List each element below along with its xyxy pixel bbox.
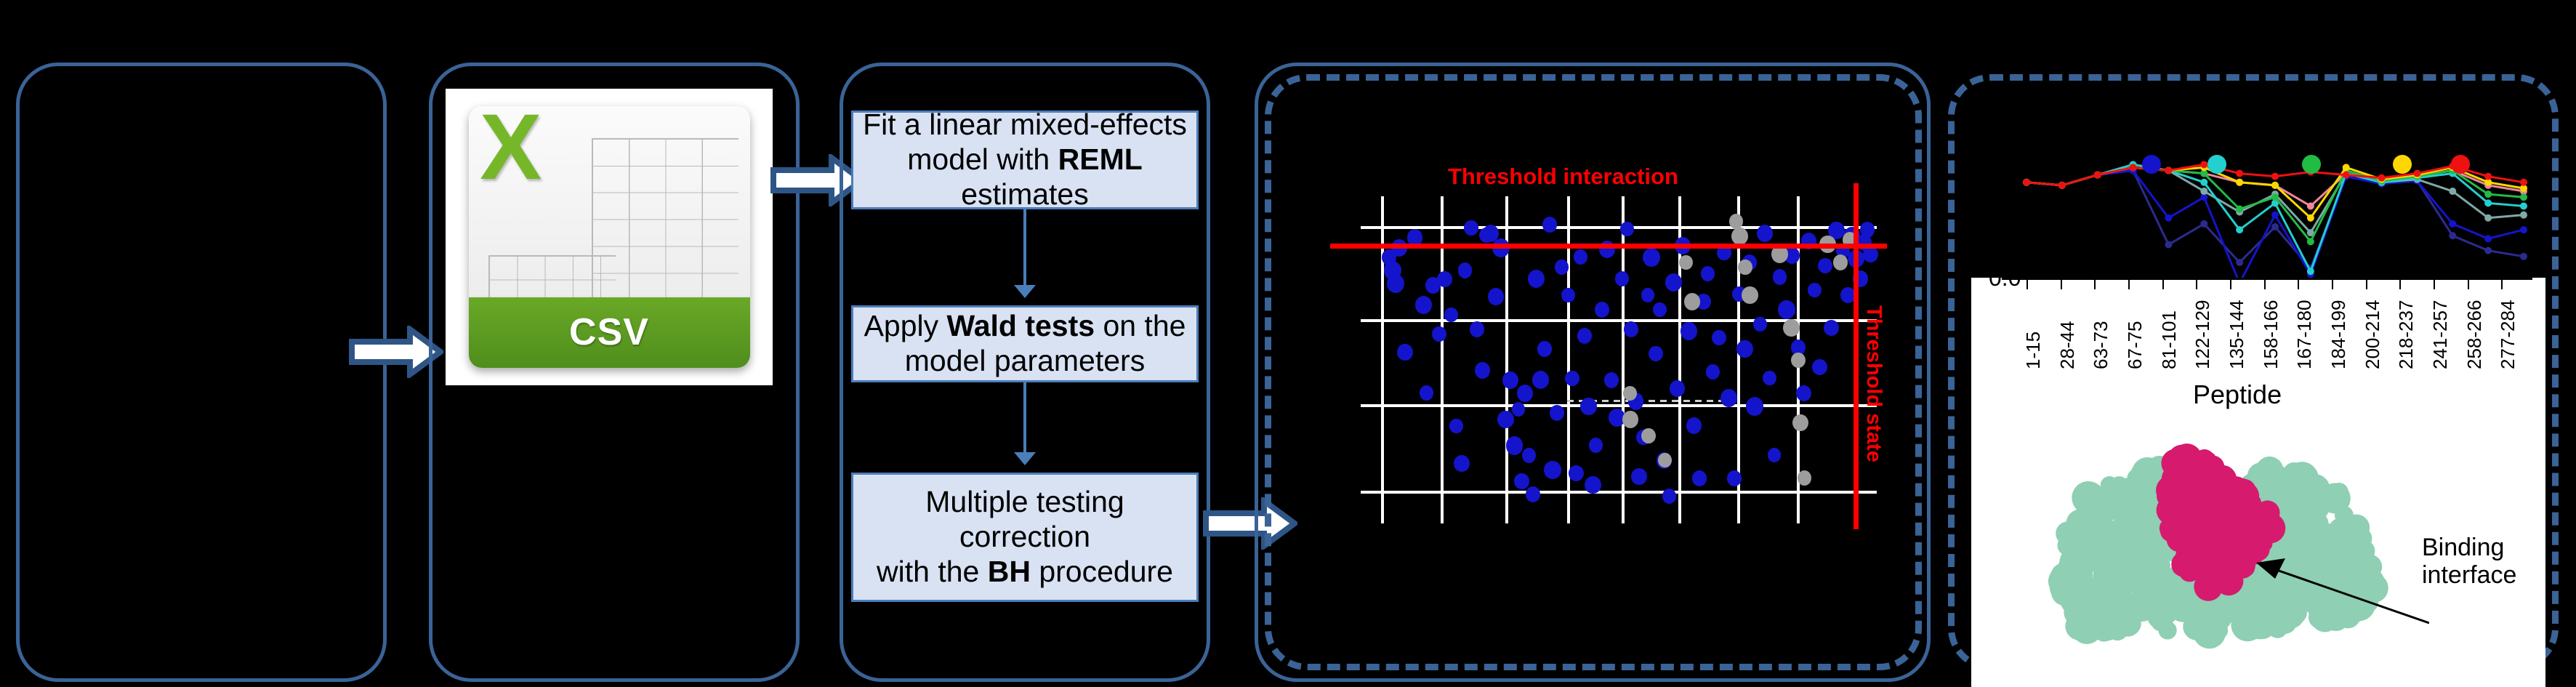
scatter-point [1720,389,1737,407]
scatter-point [1615,271,1629,286]
scatter-gridlines [1361,196,1877,523]
structure-surface-blob [2115,595,2138,617]
scatter-point [1692,470,1707,486]
scatter-plot: Threshold state [1361,196,1877,523]
structure-surface-blob [2335,506,2354,525]
peptide-tick-mark [2501,279,2503,289]
scatter-point [1768,448,1781,462]
structure-surface-blob [2307,556,2323,572]
peptide-tick-label: 167-180 [2293,300,2316,369]
scatter-point [1561,288,1575,302]
peptide-marker [2271,223,2279,230]
peptide-marker [2484,235,2492,242]
peptide-tick-mark [2298,279,2299,289]
peptide-marker [2449,220,2456,228]
scatter-point [1796,385,1811,401]
protein-complex-structure [2022,416,2429,663]
csv-label-text: CSV [569,310,649,354]
figure-root: X CSV Fit a linear mixed-effects model w… [0,0,2576,687]
structure-surface-blob [2090,545,2111,566]
scatter-point [1778,300,1795,318]
peptide-marker [2484,247,2492,254]
structure-surface-blob [2196,561,2221,586]
peptide-tick-mark [2196,279,2197,289]
peptide-structure-card: 0.0 1-1528-4463-7367-7581-101122-129135-… [1971,278,2545,687]
structure-surface-blob [2291,463,2316,488]
peptide-marker [2200,220,2207,228]
scatter-point [1783,319,1800,337]
peptide-marker [2449,188,2456,195]
peptide-marker [2307,214,2314,222]
peptide-tick-label: 1-15 [2022,332,2045,369]
scatter-point [1464,220,1478,236]
scatter-point [1528,270,1545,288]
peptide-tick-label: 184-199 [2327,300,2350,369]
scatter-point [1577,328,1592,344]
binding-interface-label: Bindinginterface [2422,534,2516,589]
scatter-point [1649,346,1663,361]
peptide-tick-label: 241-257 [2429,300,2452,369]
legend-dot-3 [2393,155,2412,174]
peptide-legend [2006,154,2529,183]
structure-surface-blob [2128,576,2143,591]
scatter-point [1565,371,1579,387]
peptide-marker [2165,241,2172,248]
peptide-tick-mark [2061,279,2062,289]
legend-dot-0 [2142,155,2161,174]
structure-surface-blob [2245,609,2274,639]
scatter-point [1574,249,1588,265]
scatter-point [1514,473,1529,489]
peptide-marker [2307,202,2314,209]
csv-label-band: CSV [469,297,750,368]
peptide-marker [2236,226,2243,233]
peptide-marker [2520,253,2527,260]
scatter-point [1753,317,1766,332]
structure-surface-blob [2175,497,2189,510]
peptide-marker [2520,193,2527,201]
structure-surface-blob [2254,508,2272,526]
scatter-point [1397,344,1413,361]
legend-dot-4 [2451,155,2470,174]
scatter-point [1387,274,1404,293]
scatter-point [1522,448,1536,463]
threshold-interaction-label: Threshold interaction [1448,164,1678,190]
scatter-point [1662,489,1676,503]
csv-x-glyph: X [480,106,542,194]
scatter-point [1542,217,1557,233]
connector-arrowhead-wald [1014,285,1036,298]
peptide-marker [2520,226,2527,233]
peptide-tick-label: 218-237 [2395,300,2418,369]
scatter-point [1679,255,1693,270]
structure-surface-blob [2113,553,2129,569]
scatter-point [1604,372,1619,388]
scatter-point [1824,320,1839,336]
scatter-point [1653,302,1667,317]
scatter-point [1791,353,1805,368]
scatter-point [1585,476,1601,494]
bh-box-text: Multiple testing correctionwith the BH p… [859,485,1191,590]
peptide-marker [2484,199,2492,206]
scatter-gridline-h [1361,404,1877,407]
peptide-tick-mark [2366,279,2367,289]
peptide-tick-label: 158-166 [2260,300,2282,369]
scatter-point [1681,322,1697,340]
peptide-tick-mark [2332,279,2333,289]
legend-dot-2 [2302,155,2321,174]
scatter-point [1701,266,1715,281]
peptide-marker [2307,238,2314,245]
scatter-point [1622,411,1638,428]
scatter-point [1860,222,1875,238]
structure-surface-blob [2098,572,2125,599]
scatter-point [1757,225,1774,242]
structure-surface-blob [2286,489,2311,515]
scatter-point [1665,273,1682,292]
connector-reml-to-wald [1023,209,1026,285]
structure-surface-blob [2330,483,2348,502]
csv-grid-lower [488,255,616,303]
peptide-tick-label: 67-75 [2124,321,2146,370]
structure-surface-blob [2168,465,2197,495]
structure-surface-blob [2082,595,2098,611]
scatter-point [1643,248,1660,267]
scatter-point [1595,302,1609,318]
wald-box-text: Apply Wald tests on the model parameters [859,309,1191,379]
scatter-point [1512,402,1525,416]
threshold-state-label: Threshold state [1861,305,1885,462]
peptide-tick-label: 28-44 [2056,321,2079,370]
reml-box-text: Fit a linear mixed-effects model with RE… [859,108,1191,212]
scatter-gridline-h [1361,226,1877,229]
scatter-point [1736,340,1753,358]
scatter-point [1641,428,1655,443]
csv-file-icon: X CSV [446,89,773,385]
scatter-point [1763,371,1776,385]
csv-icon-body: X CSV [469,106,750,367]
scatter-point [1537,341,1552,356]
peptide-tick-label: 200-214 [2362,300,2384,369]
peptide-tick-mark [2468,279,2469,289]
scatter-point [1731,228,1748,246]
scatter-point [1670,380,1685,397]
scatter-point [1580,398,1597,416]
peptide-tick-mark [2026,279,2028,289]
structure-surface-blob [2158,621,2176,639]
scatter-point [1497,411,1514,428]
peptide-tick-label: 277-284 [2497,300,2519,369]
threshold-line-vertical [1853,183,1859,529]
threshold-line-horizontal [1330,244,1887,249]
input-panel [16,63,387,682]
scatter-point [1444,308,1458,322]
scatter-point [1569,465,1584,482]
scatter-point [1686,417,1702,434]
peptide-axis-line [2002,278,2532,280]
peptide-tick-mark [2162,279,2164,289]
peptide-marker [2200,188,2207,195]
structure-surface-blob [2256,536,2271,550]
scatter-point [1623,386,1637,401]
peptide-axis-title: Peptide [2193,379,2282,410]
legend-dot-1 [2207,155,2226,174]
structure-surface-blob [2172,557,2191,576]
scatter-point [1544,461,1561,479]
scatter-point [1517,385,1533,402]
scatter-point [1818,258,1832,273]
scatter-point [1812,359,1827,375]
scatter-point [1506,436,1524,454]
scatter-point [1550,405,1564,421]
scatter-point [1437,271,1452,287]
scatter-point [1727,470,1742,486]
scatter-point [1641,288,1654,302]
scatter-point [1631,468,1647,486]
structure-surface-blob [2351,552,2379,580]
structure-surface-blob [2213,534,2229,550]
structure-surface-blob [2312,588,2327,603]
peptide-tick-label: 258-266 [2463,300,2486,369]
scatter-point [1502,371,1519,389]
scatter-point [1798,470,1811,486]
peptide-tick-mark [2128,279,2130,289]
peptide-marker [2271,193,2279,201]
wald-box[interactable]: Apply Wald tests on the model parameters [851,305,1199,382]
scatter-point [1526,486,1541,502]
peptide-tick-mark [2094,279,2096,289]
scatter-point [1532,371,1549,389]
scatter-point [1792,414,1808,431]
scatter-point [1470,321,1484,337]
bh-box[interactable]: Multiple testing correctionwith the BH p… [851,473,1199,602]
scatter-point [1684,293,1700,310]
peptide-tick-label: 81-101 [2158,310,2181,369]
peptide-tick-label: 122-129 [2191,300,2214,369]
structure-surface-blob [2298,592,2314,608]
structure-surface-blob [2185,603,2208,627]
structure-surface-blob [2256,457,2284,484]
peptide-marker [2165,214,2172,222]
peptide-tick-mark [2399,279,2401,289]
peptide-tick-label: 135-144 [2226,300,2248,369]
scatter-point [1773,269,1787,284]
peptide-axis-labels: 1-1528-4463-7367-7581-101122-129135-1441… [2009,284,2545,378]
scatter-point [1454,455,1470,472]
peptide-marker [2520,212,2527,219]
structure-surface-blob [2122,491,2140,509]
scatter-point [1833,254,1848,270]
connector-arrowhead-bh [1014,452,1036,465]
reml-box[interactable]: Fit a linear mixed-effects model with RE… [851,111,1199,209]
scatter-point [1808,283,1822,297]
scatter-point [1449,419,1463,433]
scatter-point [1746,397,1763,416]
scatter-point [1488,288,1505,306]
scatter-gridline-h [1361,491,1877,494]
peptide-tick-mark [2434,279,2435,289]
peptide-marker [2236,206,2243,213]
scatter-point [1458,262,1473,278]
scatter-point [1738,260,1752,275]
scatter-point [1555,260,1569,274]
scatter-point [1742,286,1758,305]
peptide-marker [2520,202,2527,209]
peptide-marker [2449,232,2456,239]
scatter-point [1415,296,1432,314]
scatter-point [1432,326,1446,342]
peptide-tick-mark [2264,279,2266,289]
peptide-marker [2271,212,2279,219]
peptide-marker [2484,214,2492,222]
scatter-point [1620,222,1633,236]
peptide-tick-label: 63-73 [2090,321,2112,370]
scatter-point [1712,330,1726,345]
peptide-marker [2236,259,2243,266]
scatter-point [1624,321,1639,338]
connector-wald-to-bh [1023,382,1026,452]
peptide-marker [2484,190,2492,198]
scatter-point [1475,362,1491,379]
scatter-point [1706,364,1720,379]
scatter-point [1589,438,1603,453]
scatter-gridline-h [1361,319,1877,322]
peptide-tick-mark [2230,279,2231,289]
scatter-point [1420,385,1433,401]
peptide-marker [2307,268,2314,275]
